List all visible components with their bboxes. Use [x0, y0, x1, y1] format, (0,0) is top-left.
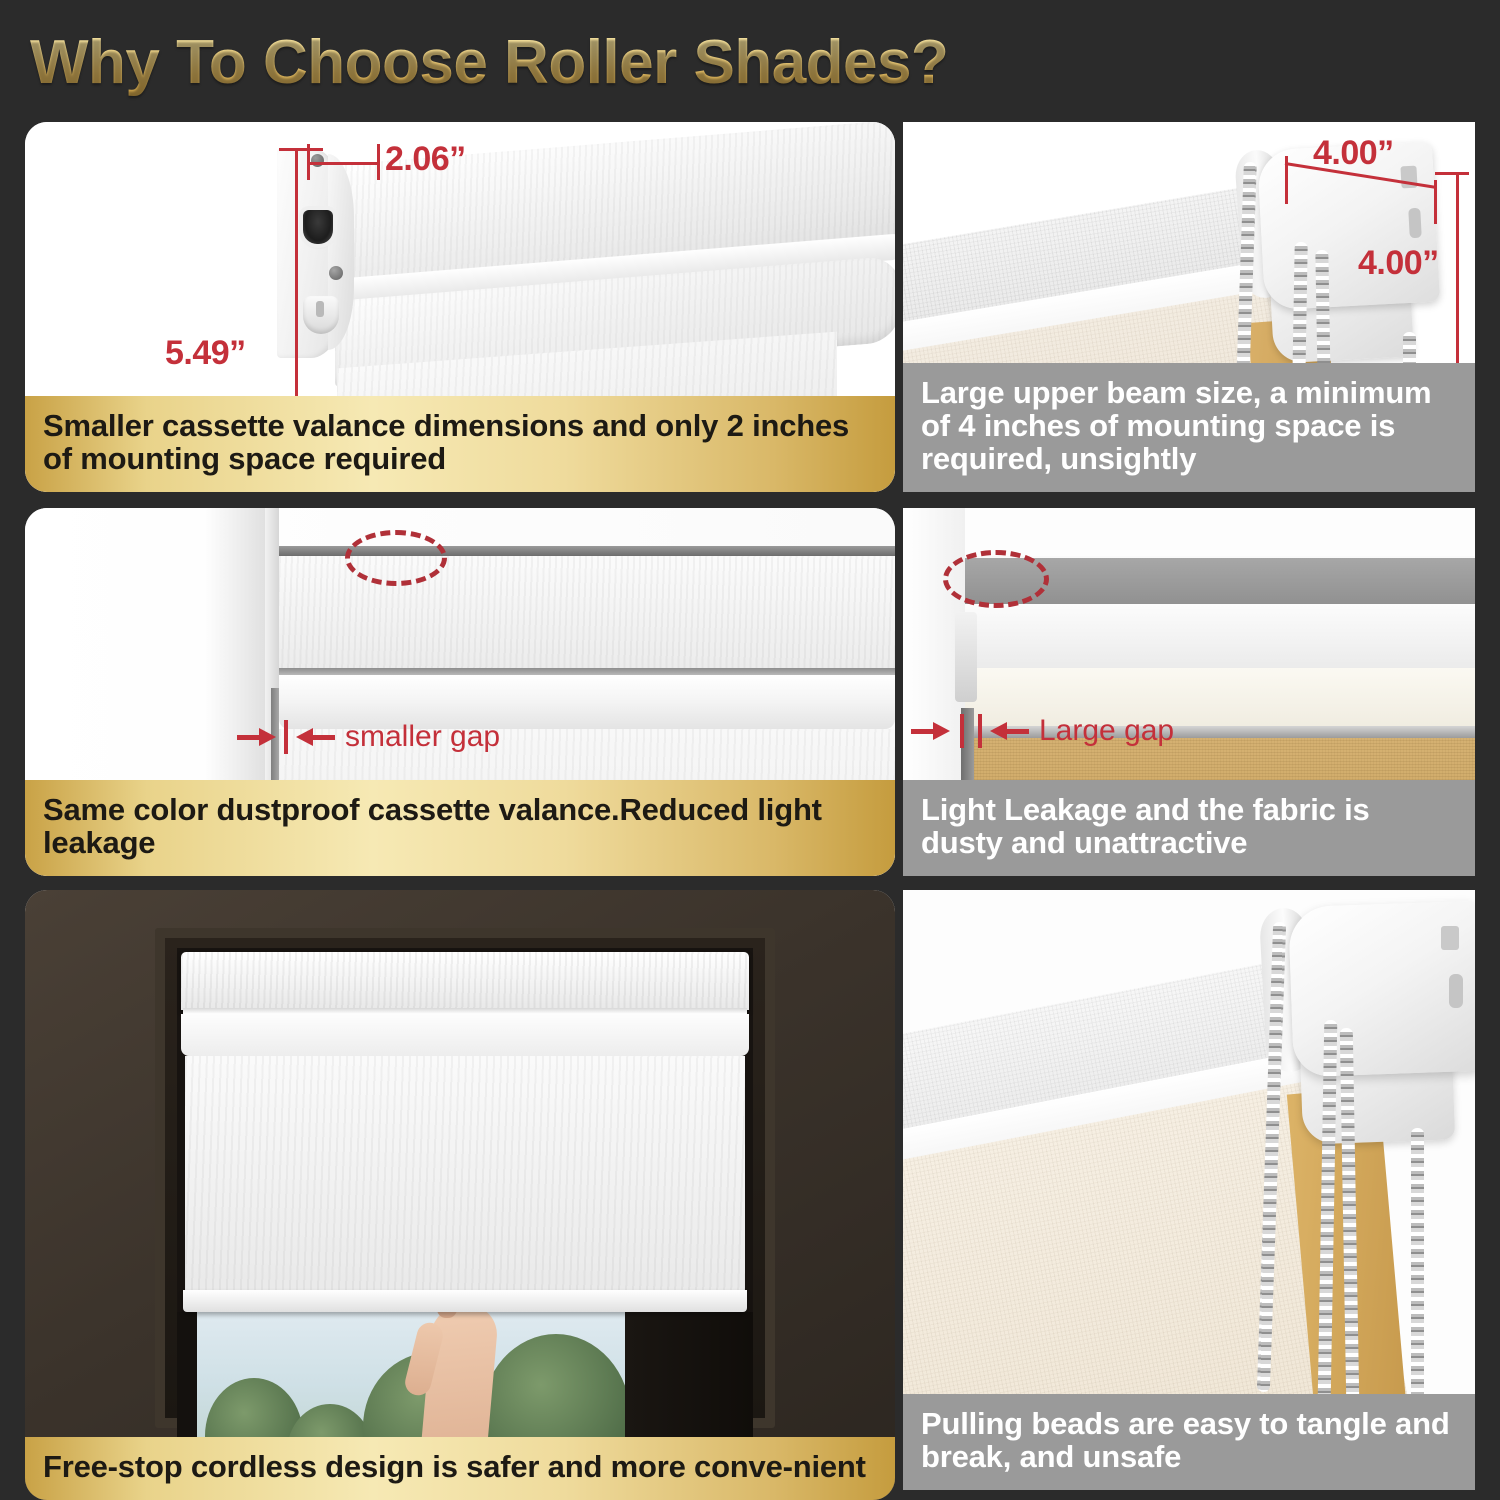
panel-caption: Light Leakage and the fabric is dusty an… — [903, 780, 1475, 876]
room-window-scene-image — [25, 890, 895, 1500]
width-dimension-label: 2.06” — [385, 140, 466, 179]
panel-caption: Large upper beam size, a minimum of 4 in… — [903, 363, 1475, 492]
arrow-tail — [313, 735, 335, 740]
mounting-clip — [303, 296, 339, 334]
screw-icon — [311, 154, 324, 167]
gap-callout-label: Large gap — [1039, 714, 1174, 748]
highlight-ellipse-icon — [345, 530, 447, 586]
cassette-control-hole — [303, 210, 333, 244]
panel-bad-beam-size: 4.00” 4.00” Large upper beam size, a min… — [903, 122, 1475, 492]
gap-callout: Large gap — [911, 714, 1174, 748]
panel-good-cordless: Free-stop cordless design is safer and m… — [25, 890, 895, 1500]
roller-tube — [181, 1014, 749, 1056]
bead-chain — [1411, 1128, 1424, 1400]
bottom-rail — [183, 1290, 747, 1312]
upper-beam — [965, 604, 1475, 676]
dim-line-height — [1456, 172, 1459, 380]
dim-line-width — [307, 162, 379, 165]
gap-marker — [960, 714, 964, 748]
cassette-valance — [181, 952, 749, 1010]
arrow-tail — [1007, 729, 1029, 734]
arrow-left-icon — [990, 722, 1007, 740]
cassette-valance-render — [277, 138, 895, 388]
panel-good-cassette-size: 2.06” 5.49” Smaller cassette valance dim… — [25, 122, 895, 492]
panel-caption: Free-stop cordless design is safer and m… — [25, 1437, 895, 1500]
arrow-tail — [237, 735, 259, 740]
arrow-tail — [911, 729, 933, 734]
arrow-right-icon — [933, 722, 950, 740]
panel-bad-light-leakage: Large gap Light Leakage and the fabric i… — [903, 508, 1475, 876]
bracket-slot — [1441, 926, 1459, 950]
gap-callout-label: smaller gap — [345, 720, 500, 754]
bracket-edge — [955, 612, 977, 702]
bracket-slot — [1408, 208, 1422, 239]
screw-icon — [329, 266, 343, 280]
panel-caption: Smaller cassette valance dimensions and … — [25, 396, 895, 492]
dim-tick-top — [1435, 172, 1469, 175]
arrow-right-icon — [259, 728, 276, 746]
shade-fabric — [185, 1056, 745, 1296]
highlight-ellipse-icon — [943, 550, 1049, 608]
gap-callout: smaller gap — [237, 720, 500, 754]
comparison-grid: 2.06” 5.49” Smaller cassette valance dim… — [0, 112, 1500, 1500]
gap-marker — [978, 714, 982, 748]
panel-good-dustproof-valance: smaller gap Same color dustproof cassett… — [25, 508, 895, 876]
panel-bad-pull-beads: Pulling beads are easy to tangle and bre… — [903, 890, 1475, 1490]
gap-marker — [284, 720, 288, 754]
bracket-slot — [1449, 974, 1463, 1008]
height-dimension-label: 5.49” — [165, 334, 246, 373]
panel-caption: Same color dustproof cassette valance.Re… — [25, 780, 895, 876]
dim-tick-top — [279, 148, 323, 151]
ceiling-band — [965, 508, 1475, 556]
width-dimension-label: 4.00” — [1313, 134, 1394, 173]
height-dimension-label: 4.00” — [1358, 244, 1439, 283]
valance-shadow-line — [279, 668, 895, 675]
panel-caption: Pulling beads are easy to tangle and bre… — [903, 1394, 1475, 1490]
page-title: Why To Choose Roller Shades? — [30, 18, 1330, 108]
arrow-left-icon — [296, 728, 313, 746]
page-title-text: Why To Choose Roller Shades? — [30, 18, 1330, 108]
